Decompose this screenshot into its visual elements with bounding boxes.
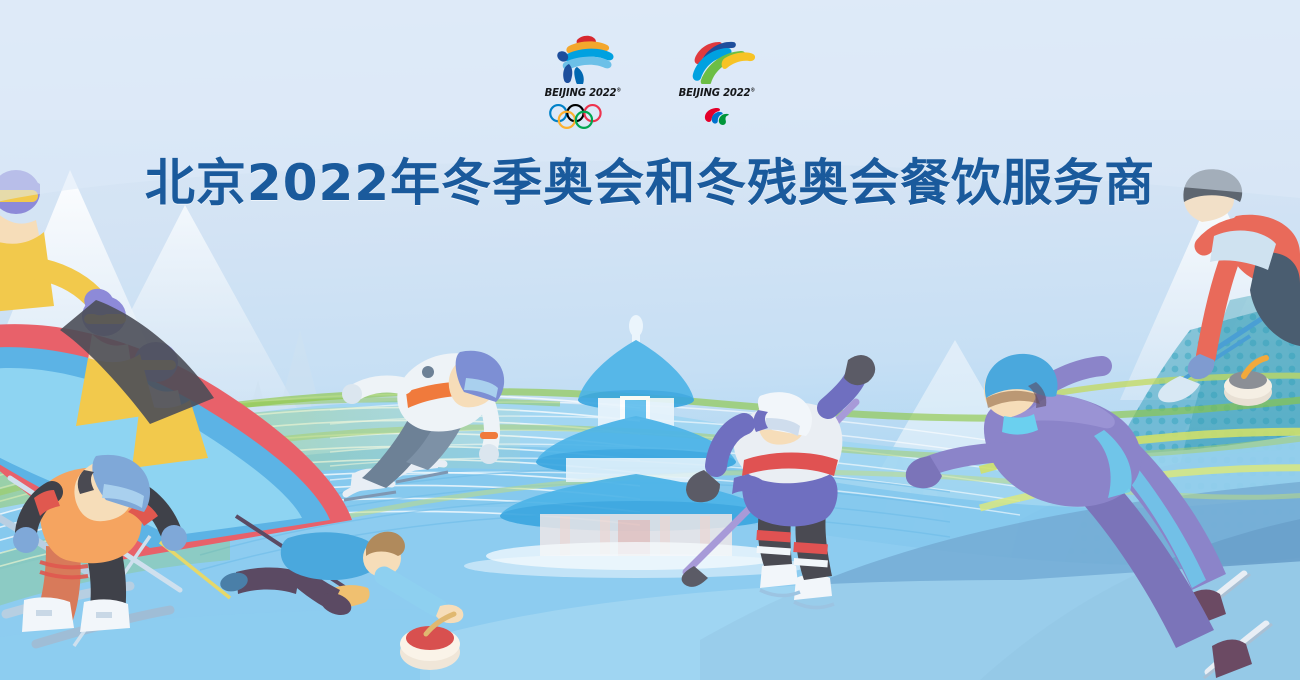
paralympic-wordmark: BEIJING 2022® <box>679 87 755 99</box>
paralympic-emblem: BEIJING 2022® <box>671 32 763 129</box>
emblem-row: BEIJING 2022® <box>0 32 1300 129</box>
beijing-2022-catering-banner: BEIJING 2022® <box>0 0 1300 680</box>
paralympic-emblem-mark <box>671 32 763 84</box>
olympic-emblem-mark <box>537 32 629 84</box>
olympic-rings-icon <box>545 103 621 129</box>
olympic-wordmark: BEIJING 2022® <box>545 87 621 99</box>
page-title: 北京2022年冬季奥会和冬残奥会餐饮服务商 <box>0 143 1300 215</box>
paralympic-agitos-icon <box>685 103 749 129</box>
olympic-emblem: BEIJING 2022® <box>537 32 629 129</box>
